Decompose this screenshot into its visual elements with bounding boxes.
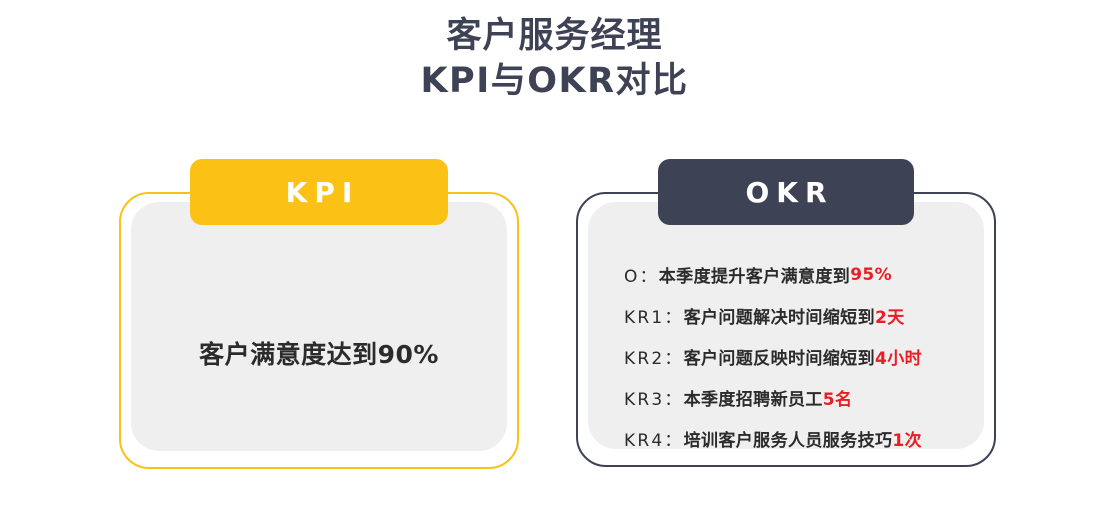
okr-row-key: KR4： xyxy=(624,426,684,451)
list-item: KR2： 客户问题反映时间缩短到 4小时 xyxy=(624,336,970,377)
kpi-body-text: 客户满意度达到90% xyxy=(131,335,507,371)
okr-row-highlight: 5名 xyxy=(823,385,853,410)
okr-row-highlight: 1次 xyxy=(892,426,922,451)
list-item: KR1： 客户问题解决时间缩短到 2天 xyxy=(624,295,970,336)
page-title-line-1: 客户服务经理 xyxy=(0,14,1109,59)
okr-row-highlight: 2天 xyxy=(875,303,905,328)
okr-row-key: O： xyxy=(624,262,659,287)
okr-row-highlight: 4小时 xyxy=(875,344,922,369)
list-item: KR3： 本季度招聘新员工 5名 xyxy=(624,377,970,418)
okr-row-text: 客户问题反映时间缩短到 xyxy=(684,344,875,369)
okr-row-highlight: 95% xyxy=(850,265,892,285)
okr-row-text: 客户问题解决时间缩短到 xyxy=(684,303,875,328)
okr-card: O： 本季度提升客户满意度到 95% KR1： 客户问题解决时间缩短到 2天 K… xyxy=(576,192,996,467)
okr-row-key: KR2： xyxy=(624,344,684,369)
kpi-tab-label: KPI xyxy=(190,159,448,225)
okr-list: O： 本季度提升客户满意度到 95% KR1： 客户问题解决时间缩短到 2天 K… xyxy=(624,254,970,459)
okr-row-text: 培训客户服务人员服务技巧 xyxy=(684,426,893,451)
okr-row-text: 本季度招聘新员工 xyxy=(684,385,823,410)
page-title-line-2: KPI与OKR对比 xyxy=(0,59,1109,104)
kpi-card-panel: 客户满意度达到90% xyxy=(131,202,507,451)
okr-tab-label: OKR xyxy=(658,159,914,225)
okr-row-key: KR3： xyxy=(624,385,684,410)
okr-row-text: 本季度提升客户满意度到 xyxy=(659,262,850,287)
page-title: 客户服务经理 KPI与OKR对比 xyxy=(0,14,1109,104)
okr-row-key: KR1： xyxy=(624,303,684,328)
kpi-card: 客户满意度达到90% xyxy=(119,192,519,469)
okr-card-panel: O： 本季度提升客户满意度到 95% KR1： 客户问题解决时间缩短到 2天 K… xyxy=(588,202,984,449)
list-item: KR4： 培训客户服务人员服务技巧 1次 xyxy=(624,418,970,459)
list-item: O： 本季度提升客户满意度到 95% xyxy=(624,254,970,295)
